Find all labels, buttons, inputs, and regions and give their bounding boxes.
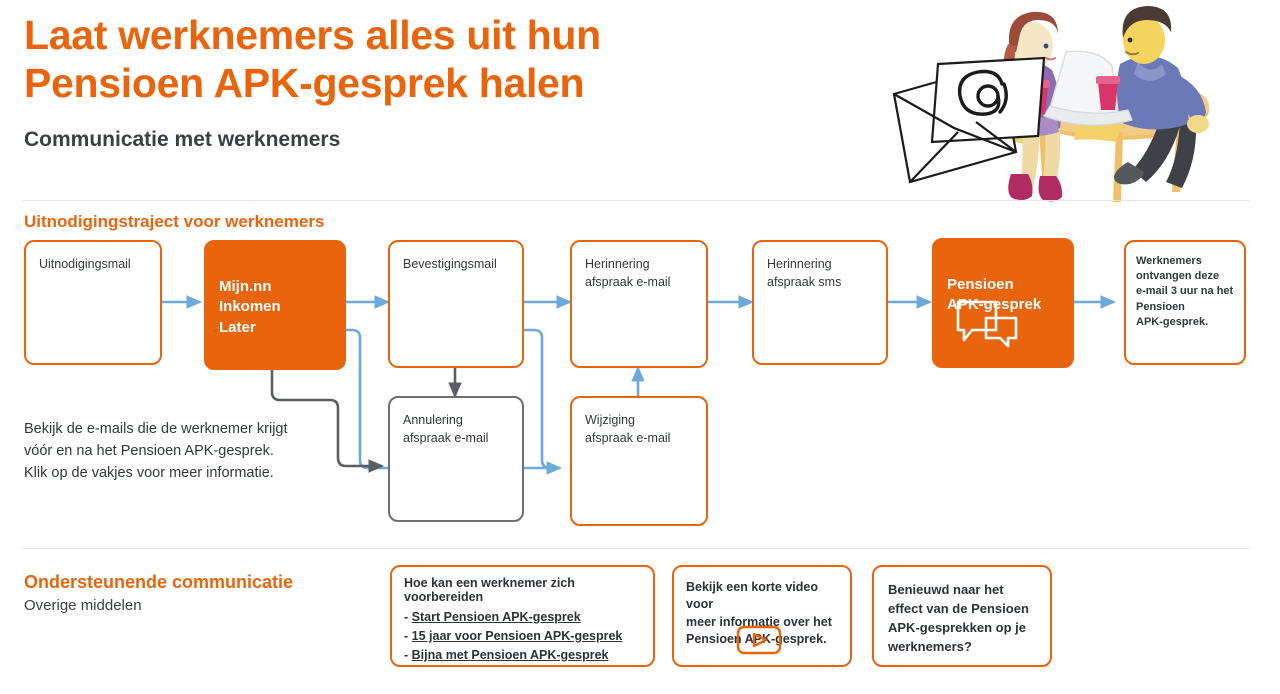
- link-bijna-met-pensioen-apk-gesprek[interactable]: Bijna met Pensioen APK-gesprek: [412, 648, 609, 662]
- card-prepare-title: Hoe kan een werknemer zich voorbereiden: [404, 576, 641, 604]
- divider-bottom: [22, 548, 1250, 549]
- flow-box-pensioen-apk-gesprek[interactable]: Pensioen APK-gesprek: [932, 238, 1074, 368]
- divider-top: [22, 200, 1250, 201]
- play-button-icon[interactable]: [736, 625, 782, 655]
- list-bullet: -: [404, 629, 408, 643]
- list-bullet: -: [404, 648, 408, 662]
- card-prepare-employee[interactable]: Hoe kan een werknemer zich voorbereiden …: [390, 565, 655, 667]
- flow-box-nazorg-mail[interactable]: Werknemers ontvangen deze e-mail 3 uur n…: [1124, 240, 1246, 365]
- support-section-subheading: Overige middelen: [24, 597, 142, 614]
- flow-box-herinnering-afspraak-sms[interactable]: Herinnering afspraak sms: [752, 240, 888, 365]
- prepare-link-row-3[interactable]: - Bijna met Pensioen APK-gesprek: [404, 648, 641, 662]
- header-illustration: [880, 2, 1280, 217]
- list-bullet: -: [404, 610, 408, 624]
- prepare-link-row-2[interactable]: - 15 jaar voor Pensioen APK-gesprek: [404, 629, 641, 643]
- flow-box-annulering-afspraak-email[interactable]: Annulering afspraak e-mail: [388, 396, 524, 522]
- flow-box-wijziging-afspraak-email[interactable]: Wijziging afspraak e-mail: [570, 396, 708, 526]
- link-15-jaar-voor-pensioen-apk-gesprek[interactable]: 15 jaar voor Pensioen APK-gesprek: [412, 629, 623, 643]
- flow-section-heading: Uitnodigingstraject voor werknemers: [24, 212, 324, 232]
- link-start-pensioen-apk-gesprek[interactable]: Start Pensioen APK-gesprek: [412, 610, 581, 624]
- support-section-heading: Ondersteunende communicatie: [24, 572, 293, 593]
- flow-box-bevestigingsmail[interactable]: Bevestigingsmail: [388, 240, 524, 368]
- flow-box-label: Mijn.nn Inkomen Later: [219, 278, 281, 336]
- flow-box-uitnodigingsmail[interactable]: Uitnodigingsmail: [24, 240, 162, 365]
- flow-box-herinnering-afspraak-email[interactable]: Herinnering afspraak e-mail: [570, 240, 708, 368]
- card-watch-video[interactable]: Bekijk een korte video voor meer informa…: [672, 565, 852, 667]
- prepare-link-row-1[interactable]: - Start Pensioen APK-gesprek: [404, 610, 641, 624]
- speech-bubbles-icon: [956, 300, 1018, 348]
- infographic-page: Laat werknemers alles uit hun Pensioen A…: [0, 0, 1280, 694]
- flow-instruction-text: Bekijk de e-mails die de werknemer krijg…: [24, 418, 354, 485]
- flow-box-mijn-nn-inkomen-later[interactable]: Mijn.nn Inkomen Later: [204, 240, 346, 370]
- card-effect-text: Benieuwd naar het effect van de Pensioen…: [888, 581, 1038, 656]
- envelope-at-symbol-two-people-laptop-illustration: [880, 2, 1280, 217]
- page-title: Laat werknemers alles uit hun Pensioen A…: [24, 12, 704, 107]
- page-subtitle: Communicatie met werknemers: [24, 128, 340, 152]
- card-effect-question[interactable]: Benieuwd naar het effect van de Pensioen…: [872, 565, 1052, 667]
